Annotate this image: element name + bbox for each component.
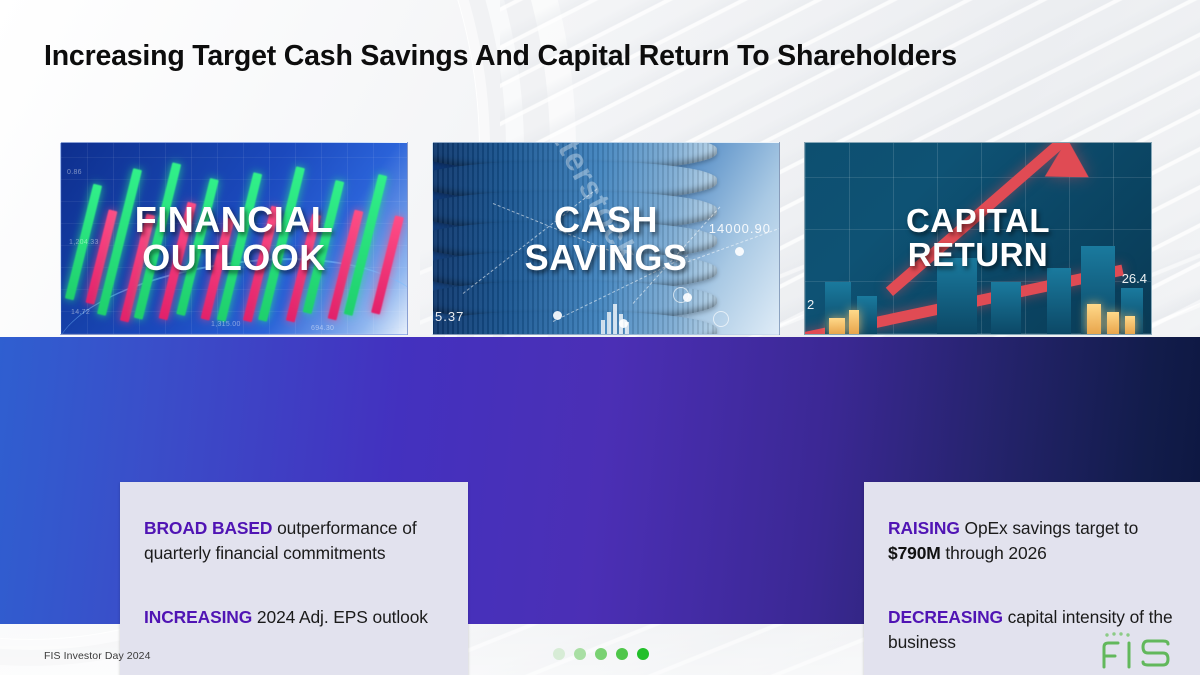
bullet-2-rest: 2024 Adj. EPS outlook <box>252 607 428 627</box>
bullet-1: BROAD BASED outperformance of quarterly … <box>144 516 446 565</box>
dot-2[interactable] <box>574 648 586 660</box>
data-node-ring <box>673 287 689 303</box>
bullet-1-rest: OpEx savings target to <box>960 518 1138 538</box>
lit-building-top <box>829 318 845 334</box>
mini-bar-chart <box>601 304 629 334</box>
bullet-1: RAISING OpEx savings target to $790M thr… <box>888 516 1190 565</box>
chart-tick-label: 0.86 <box>67 169 82 176</box>
chart-tick-label: 1,315.00 <box>211 321 241 328</box>
bullet-2-lead: DECREASING <box>888 607 1003 627</box>
hero-caption-line2: OUTLOOK <box>61 239 407 277</box>
bullet-1-lead: RAISING <box>888 518 960 538</box>
slide-canvas: Increasing Target Cash Savings And Capit… <box>0 0 1200 675</box>
column-financial-outlook: 0.861,204.3314.721,315.00694.30 FINANCIA… <box>60 142 408 335</box>
hero-number-left: 5.37 <box>435 309 464 324</box>
hero-number-left: 2 <box>807 297 814 312</box>
hero-image-coin-stack: shutterstock 14000.90 5.37 CASH SAVINGS <box>432 142 780 335</box>
chart-tick-label: 14.72 <box>71 309 90 316</box>
lit-building-top <box>1125 316 1135 334</box>
progress-dots[interactable] <box>553 648 649 660</box>
red-arrow-head-icon <box>1045 142 1090 177</box>
dot-5[interactable] <box>637 648 649 660</box>
hero-image-rising-arrow: 26.4 2 CAPITAL RETURN <box>804 142 1152 335</box>
skyline-building <box>1047 268 1071 334</box>
slide-title: Increasing Target Cash Savings And Capit… <box>44 40 1174 73</box>
hero-image-candlestick-chart: 0.861,204.3314.721,315.00694.30 FINANCIA… <box>60 142 408 335</box>
dot-4[interactable] <box>616 648 628 660</box>
data-node-dot <box>553 311 562 320</box>
chart-tick-label: 694.30 <box>311 325 334 332</box>
skyline-building <box>991 282 1021 334</box>
hero-caption-line1: CASH <box>433 200 779 238</box>
text-card-financial-outlook: BROAD BASED outperformance of quarterly … <box>120 482 468 675</box>
dot-1[interactable] <box>553 648 565 660</box>
hero-caption-line2: RETURN <box>805 239 1151 274</box>
bullet-2-lead: INCREASING <box>144 607 252 627</box>
hero-caption-line1: CAPITAL <box>805 204 1151 239</box>
footer-label: FIS Investor Day 2024 <box>44 650 151 662</box>
bullet-1-lead: BROAD BASED <box>144 518 272 538</box>
hero-caption-line2: SAVINGS <box>433 239 779 277</box>
column-capital-return: 26.4 2 CAPITAL RETURN RAISING 2024 share… <box>804 142 1152 335</box>
lit-building-top <box>849 310 859 334</box>
data-node-ring <box>713 311 729 327</box>
fis-logo <box>1100 630 1174 670</box>
dot-3[interactable] <box>595 648 607 660</box>
bullet-1-bold: $790M <box>888 543 941 563</box>
skyline-building <box>857 296 877 334</box>
lit-building-top <box>1087 304 1101 334</box>
lit-building-top <box>1107 312 1119 334</box>
bullet-1-tail: through 2026 <box>941 543 1047 563</box>
bullet-2: INCREASING 2024 Adj. EPS outlook <box>144 605 446 630</box>
column-cash-savings: shutterstock 14000.90 5.37 CASH SAVINGS … <box>432 142 780 335</box>
hero-caption-line1: FINANCIAL <box>61 200 407 238</box>
